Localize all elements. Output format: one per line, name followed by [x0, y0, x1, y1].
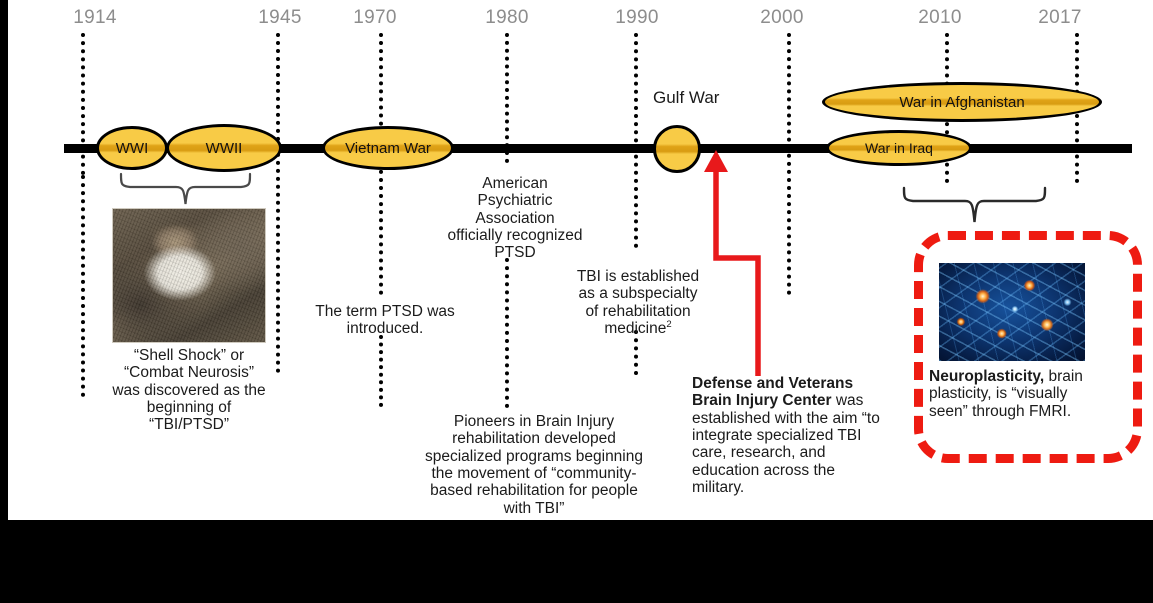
brace-neuroplasticity — [901, 186, 1049, 224]
annotation-pioneers-brain-injury: Pioneers in Brain Injury rehabilitation … — [393, 413, 675, 517]
pioneers-line-1: Pioneers in Brain Injury — [393, 413, 675, 430]
ptsd-term-line-1: The term PTSD was — [296, 303, 474, 320]
tbi-sub-line-4-text: medicine — [604, 320, 666, 337]
pioneers-line-3: specialized programs beginning — [393, 448, 675, 465]
red-pointer-arrow — [698, 140, 778, 380]
year-label-1970: 1970 — [353, 7, 396, 29]
year-label-1945: 1945 — [258, 7, 301, 29]
pioneers-line-6: with TBI” — [393, 500, 675, 517]
shell-shock-line-3: was discovered as the — [86, 382, 292, 399]
tick-guide-1980-lower — [505, 258, 509, 408]
tbi-sub-line-4: medicine2 — [559, 320, 717, 338]
event-wwii[interactable]: WWII — [166, 124, 282, 172]
event-gulf-war[interactable] — [653, 125, 701, 173]
event-vietnam-war[interactable]: Vietnam War — [322, 126, 454, 170]
apa-line-4: officially recognized — [425, 227, 605, 244]
slide-content: 1914 1945 1970 1980 1990 2000 2010 2017 — [8, 0, 1153, 520]
tick-guide-1914 — [81, 33, 85, 175]
tbi-sub-line-1: TBI is established — [559, 268, 717, 285]
neuroplasticity-bold-lead: Neuroplasticity, — [929, 368, 1044, 385]
year-label-2017: 2017 — [1038, 7, 1081, 29]
apa-line-5: PTSD — [425, 244, 605, 261]
year-label-1914: 1914 — [73, 7, 116, 29]
event-war-in-iraq[interactable]: War in Iraq — [826, 130, 972, 166]
frame-left-border — [0, 0, 8, 520]
pioneers-line-4: the movement of “community- — [393, 465, 675, 482]
annotation-neuroplasticity: Neuroplasticity, brain plasticity, is “v… — [929, 368, 1099, 420]
apa-line-3: Association — [425, 210, 605, 227]
tbi-sub-line-3: of rehabilitation — [559, 303, 717, 320]
annotation-tbi-subspecialty: TBI is established as a subspecialty of … — [559, 268, 717, 338]
ptsd-term-line-2: introduced. — [296, 320, 474, 337]
pioneers-line-2: rehabilitation developed — [393, 430, 675, 447]
dvbic-bold-lead: Defense and Veterans Brain Injury Center — [692, 375, 853, 409]
annotation-apa-recognized: American Psychiatric Association officia… — [425, 175, 605, 262]
photo-neural-network — [939, 263, 1085, 361]
event-war-in-afghanistan[interactable]: War in Afghanistan — [822, 82, 1102, 122]
shell-shock-line-4: beginning of — [86, 399, 292, 416]
annotation-shell-shock: “Shell Shock” or “Combat Neurosis” was d… — [86, 347, 292, 434]
pioneers-line-5: based rehabilitation for people — [393, 482, 675, 499]
tick-guide-2000 — [787, 33, 791, 295]
shell-shock-line-5: “TBI/PTSD” — [86, 416, 292, 433]
apa-line-2: Psychiatric — [425, 192, 605, 209]
annotation-dvbic: Defense and Veterans Brain Injury Center… — [692, 375, 882, 497]
event-wwi[interactable]: WWI — [96, 126, 168, 170]
photo-wwi-soldier — [112, 208, 266, 343]
year-label-2000: 2000 — [760, 7, 803, 29]
tbi-sub-footnote-marker: 2 — [666, 319, 671, 330]
tick-guide-1914-lower — [81, 175, 85, 397]
year-label-1980: 1980 — [485, 7, 528, 29]
frame-bottom-border — [0, 520, 1153, 603]
shell-shock-line-1: “Shell Shock” or — [86, 347, 292, 364]
tbi-sub-line-2: as a subspecialty — [559, 285, 717, 302]
tick-guide-1945 — [276, 33, 280, 373]
tick-guide-1990 — [634, 33, 638, 248]
photo-grain-overlay — [113, 209, 265, 342]
tick-guide-1970-lower — [379, 335, 383, 407]
year-label-2010: 2010 — [918, 7, 961, 29]
label-gulf-war: Gulf War — [653, 88, 719, 108]
apa-line-1: American — [425, 175, 605, 192]
shell-shock-line-2: “Combat Neurosis” — [86, 364, 292, 381]
year-label-1990: 1990 — [615, 7, 658, 29]
timeline-canvas: 1914 1945 1970 1980 1990 2000 2010 2017 — [0, 0, 1153, 603]
brace-world-wars — [118, 172, 253, 206]
annotation-ptsd-term: The term PTSD was introduced. — [296, 303, 474, 338]
